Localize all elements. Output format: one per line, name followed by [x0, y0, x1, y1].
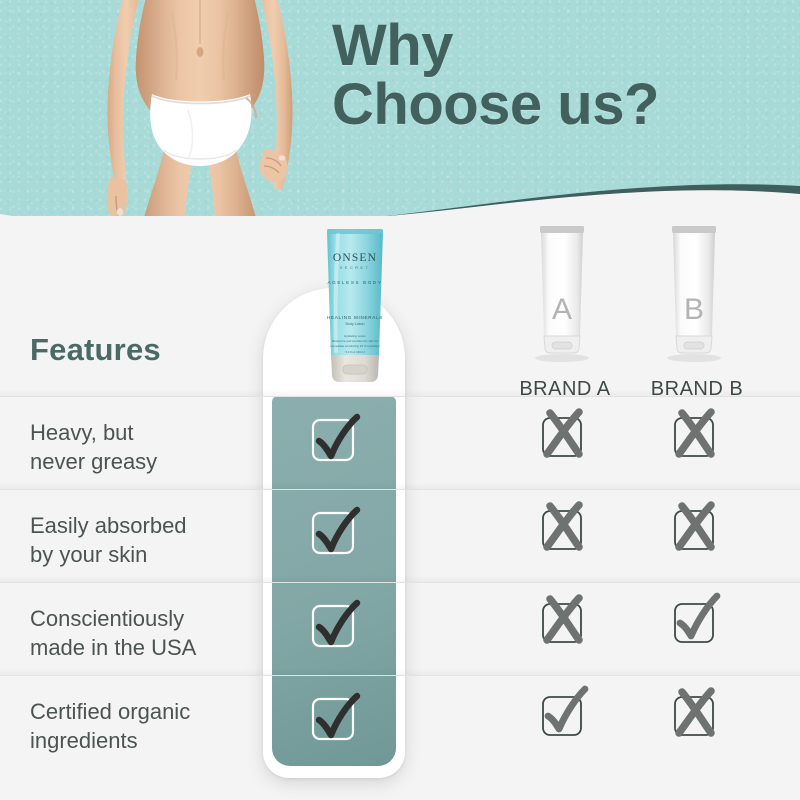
mark-onsen-row-1 — [305, 410, 363, 468]
feature-label-1-line2: never greasy — [30, 447, 260, 476]
feature-label-4-line1: Certified organic — [30, 697, 260, 726]
onsen-product-type: Body Lotion — [346, 322, 365, 326]
mark-brand-b-row-4 — [666, 685, 724, 743]
headline-line-2: Choose us? — [332, 75, 762, 134]
feature-label-3: Conscientiously made in the USA — [30, 604, 260, 662]
onsen-line-text: AGELESS BODY — [328, 280, 383, 285]
onsen-product-name: HEALING MINERALS — [327, 315, 383, 320]
competitor-tube-a: A — [530, 224, 594, 366]
feature-label-3-line1: Conscientiously — [30, 604, 260, 633]
mark-onsen-row-3 — [305, 596, 363, 654]
page-title: Why Choose us? — [332, 16, 762, 134]
row-divider — [0, 396, 800, 397]
onsen-desc-line-3: immediate comforting 24 hr hydration — [330, 344, 380, 348]
feature-label-2-line2: by your skin — [30, 540, 260, 569]
feature-label-1-line1: Heavy, but — [30, 418, 260, 447]
feature-label-3-line2: made in the USA — [30, 633, 260, 662]
competitor-letter-b: B — [684, 293, 704, 326]
onsen-brand-sub: SECRET — [340, 265, 371, 270]
mark-onsen-row-2 — [305, 503, 363, 561]
headline-line-1: Why — [332, 16, 762, 75]
hero-model-photo — [60, 0, 340, 234]
mark-brand-a-row-4 — [534, 685, 592, 743]
onsen-desc-line-2: Moisturize and soothes dry skin for — [332, 339, 378, 343]
mark-brand-a-row-2 — [534, 499, 592, 557]
infographic-root: Why Choose us? A — [0, 0, 800, 800]
mark-brand-a-row-3 — [534, 592, 592, 650]
feature-label-1: Heavy, but never greasy — [30, 418, 260, 476]
mark-brand-b-row-2 — [666, 499, 724, 557]
features-heading: Features — [30, 332, 161, 368]
feature-label-4-line2: ingredients — [30, 726, 260, 755]
mark-brand-b-row-3 — [666, 592, 724, 650]
row-divider — [0, 675, 800, 676]
onsen-volume: 5.4 fl oz 160 ml — [346, 350, 365, 354]
row-divider — [0, 582, 800, 583]
table-row: Heavy, but never greasy — [0, 396, 800, 489]
competitor-tube-b: B — [662, 224, 726, 366]
mark-brand-b-row-1 — [666, 406, 724, 464]
feature-label-2: Easily absorbed by your skin — [30, 511, 260, 569]
table-row: Certified organic ingredients — [0, 675, 800, 768]
mark-onsen-row-4 — [305, 689, 363, 747]
feature-label-2-line1: Easily absorbed — [30, 511, 260, 540]
feature-label-4: Certified organic ingredients — [30, 697, 260, 755]
onsen-product-tube: ONSEN SECRET AGELESS BODY HEALING MINERA… — [318, 229, 392, 389]
row-divider — [0, 489, 800, 490]
table-row: Easily absorbed by your skin — [0, 489, 800, 582]
table-row: Conscientiously made in the USA — [0, 582, 800, 675]
competitor-letter-a: A — [552, 293, 572, 326]
mark-brand-a-row-1 — [534, 406, 592, 464]
onsen-desc-line-1: Hydrating Lotion — [344, 334, 366, 338]
onsen-brand-text: ONSEN — [333, 252, 377, 264]
